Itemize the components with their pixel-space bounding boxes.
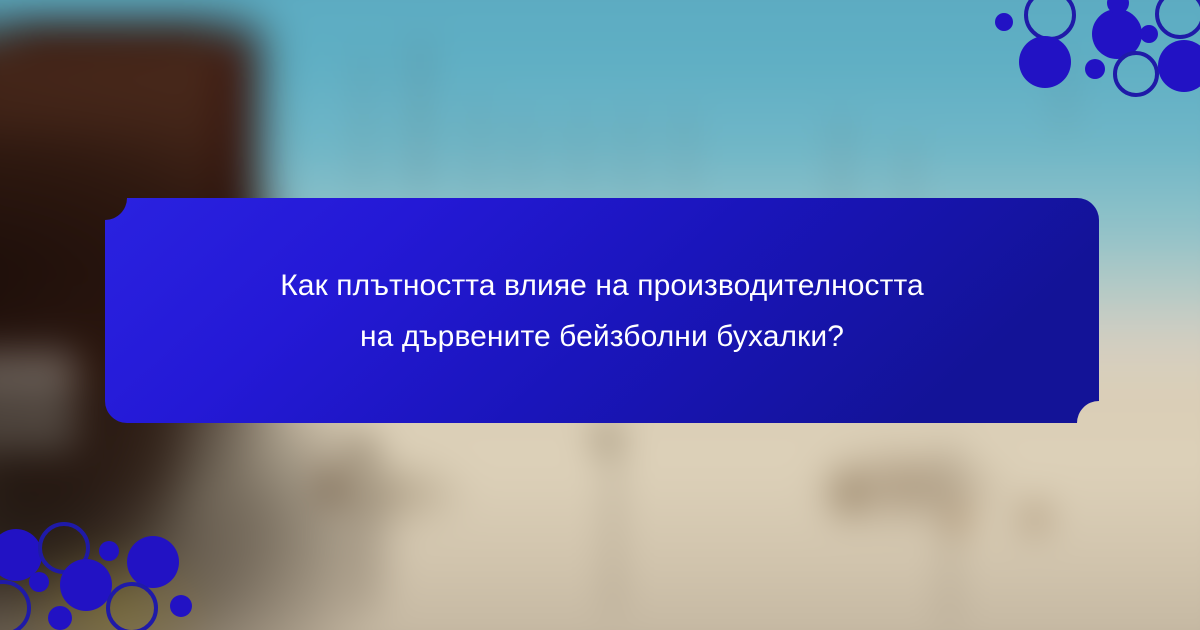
decor-dot-filled — [48, 606, 72, 630]
skyline-pole — [361, 52, 366, 194]
skyline-pole — [682, 109, 687, 201]
headline-line-2: на дървените бейзболни бухалки? — [165, 311, 1039, 362]
decor-dot-filled — [1140, 25, 1158, 43]
skyline-pole — [629, 109, 634, 201]
headline-text: Как плътността влияе на производителност… — [105, 260, 1099, 362]
skyline-pole — [577, 113, 582, 198]
decor-dot-filled — [1158, 40, 1200, 92]
decor-dot-outline — [1157, 0, 1200, 37]
decor-dots-top-right — [992, 0, 1200, 104]
decor-dots-bottom-left — [0, 520, 206, 630]
decor-dots-bottom-left-svg — [0, 520, 206, 630]
headline-banner: Как плътността влияе на производителност… — [105, 198, 1099, 423]
decor-dot-filled — [99, 541, 119, 561]
decor-dot-outline — [1026, 0, 1074, 39]
headline-line-1: Как плътността влияе на производителност… — [165, 260, 1039, 311]
decor-dot-filled — [170, 595, 192, 617]
street-figure — [837, 471, 859, 517]
decor-dot-filled — [60, 559, 112, 611]
skyline-pole — [475, 98, 480, 197]
decor-dot-filled — [995, 13, 1013, 31]
street-figure — [952, 507, 966, 533]
street-lamp-post — [609, 443, 617, 613]
decor-dot-outline — [0, 582, 29, 630]
decor-dot-outline — [1115, 53, 1157, 95]
market-stall-right — [805, 443, 1010, 528]
skyline-pole — [416, 38, 424, 194]
decor-dot-filled — [29, 572, 49, 592]
decor-dots-top-right-svg — [992, 0, 1200, 104]
share-card: Как плътността влияе на производителност… — [0, 0, 1200, 630]
decor-dot-outline — [108, 584, 156, 630]
decor-dot-filled — [1019, 36, 1071, 88]
skyline-pole — [523, 113, 528, 198]
street-figure — [1022, 500, 1048, 534]
decor-dot-filled — [1085, 59, 1105, 79]
street-lamp-head — [595, 422, 619, 452]
decor-dot-filled — [127, 536, 179, 588]
street-lamp-post — [946, 443, 953, 628]
